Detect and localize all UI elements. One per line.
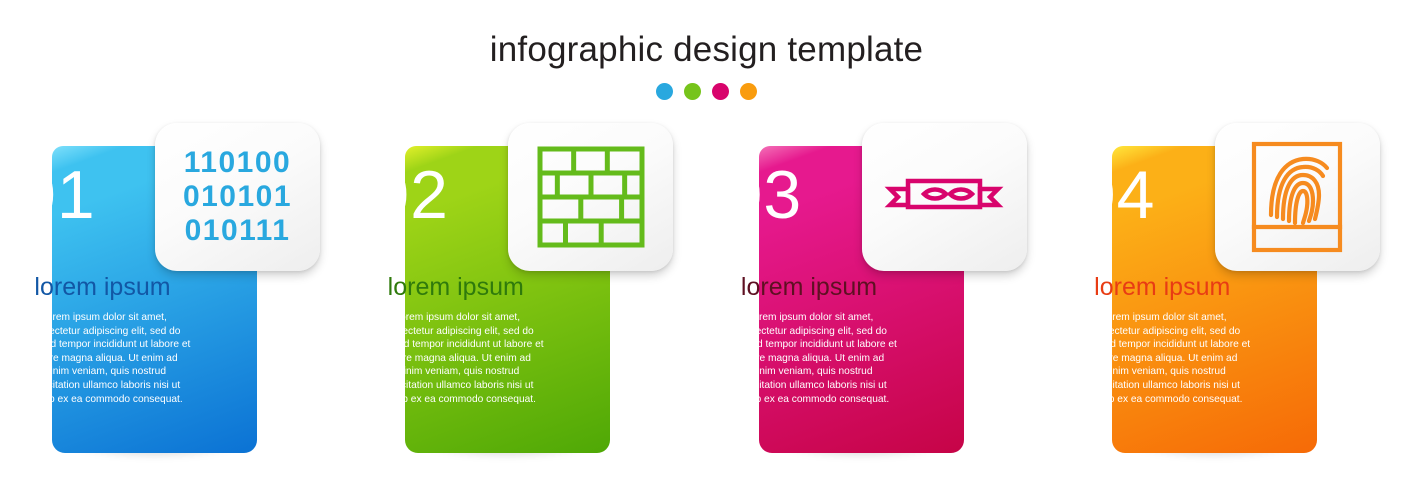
color-dot-row bbox=[0, 83, 1413, 100]
panel-body-text: Lorem ipsum dolor sit amet, consectetur … bbox=[369, 311, 545, 406]
binary-code-line: 110100 bbox=[183, 146, 292, 180]
panel-icon-tile[interactable]: 110100010101010111 bbox=[155, 123, 320, 271]
panel-number: 04 bbox=[1078, 161, 1156, 229]
panel-icon-tile[interactable] bbox=[1215, 123, 1380, 271]
panel-body-text: Lorem ipsum dolor sit amet, consectetur … bbox=[723, 311, 899, 406]
panel-number: 03 bbox=[725, 161, 803, 229]
dot-green bbox=[684, 83, 701, 100]
panel-row: 01lorem ipsumLorem ipsum dolor sit amet,… bbox=[0, 123, 1413, 483]
infographic-panel[interactable]: 03lorem ipsumLorem ipsum dolor sit amet,… bbox=[707, 123, 1060, 483]
panel-icon-tile[interactable] bbox=[862, 123, 1027, 271]
panel-icon-tile[interactable] bbox=[508, 123, 673, 271]
dot-magenta bbox=[712, 83, 729, 100]
header: infographic design template bbox=[0, 0, 1413, 100]
panel-heading: lorem ipsum bbox=[707, 275, 912, 300]
page-title: infographic design template bbox=[0, 0, 1413, 67]
infographic-panel[interactable]: 04lorem ipsumLorem ipsum dolor sit amet,… bbox=[1060, 123, 1413, 483]
infographic-panel[interactable]: 02lorem ipsumLorem ipsum dolor sit amet,… bbox=[353, 123, 706, 483]
panel-body-text: Lorem ipsum dolor sit amet, consectetur … bbox=[16, 311, 192, 406]
binary-code-line: 010101 bbox=[183, 180, 292, 214]
fingerprint-scan-icon bbox=[1251, 141, 1343, 253]
dot-blue bbox=[656, 83, 673, 100]
dot-orange bbox=[740, 83, 757, 100]
panel-number: 01 bbox=[18, 161, 96, 229]
infographic-panel[interactable]: 01lorem ipsumLorem ipsum dolor sit amet,… bbox=[0, 123, 353, 483]
panel-heading: lorem ipsum bbox=[353, 275, 558, 300]
binary-code-icon: 110100010101010111 bbox=[183, 146, 292, 248]
infographic-canvas: infographic design template 01lorem ipsu… bbox=[0, 0, 1413, 500]
panel-number: 02 bbox=[371, 161, 449, 229]
ribbon-banner-icon bbox=[884, 169, 1004, 225]
binary-code-line: 010111 bbox=[183, 214, 292, 248]
panel-body-text: Lorem ipsum dolor sit amet, consectetur … bbox=[1076, 311, 1252, 406]
brick-wall-icon bbox=[538, 147, 644, 247]
panel-heading: lorem ipsum bbox=[0, 275, 205, 300]
panel-heading: lorem ipsum bbox=[1060, 275, 1265, 300]
